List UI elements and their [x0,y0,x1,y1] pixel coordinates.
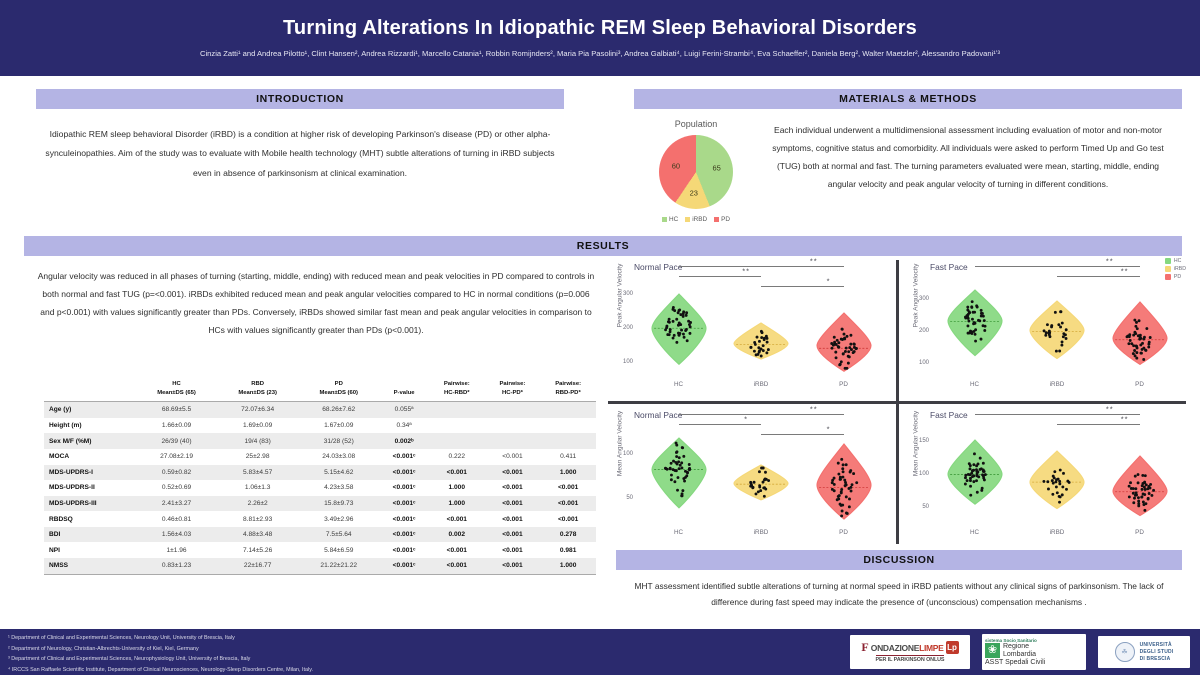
row-label: Height (m) [44,418,136,434]
table-row: MOCA27.08±2.1925±2.9824.03±3.08<0.001ᶜ0.… [44,449,596,465]
pie-legend-item-irbd: iRBD [685,216,707,223]
table-col-header-4: P-value [379,378,429,402]
results-table: HCMean±DS (65)RBDMean±DS (23)PDMean±DS (… [44,378,596,575]
significance-bar [1057,424,1140,425]
chart-x-tick-pd: PD [839,381,848,388]
chart-legend-item-irbd: iRBD [1165,266,1186,272]
chart-y-tick: 50 [922,504,929,510]
discussion-text: MHT assessment identified subtle alterat… [616,579,1182,610]
population-pie-chart: Population 65 23 60 HC iRBD [634,119,758,223]
cell-pair-hc-rbd [429,418,485,434]
chart-plot-area: 100200300HCiRBDPD**** [932,280,1182,376]
chart-x-tick-hc: HC [970,381,979,388]
chart-x-tick-hc: HC [674,529,683,536]
row-label: NPI [44,542,136,558]
chart-y-tick: 150 [919,438,929,444]
cell-pair-hc-pd: <0.001 [485,465,541,481]
violin-shape-pd [815,442,873,521]
chart-legend-label: PD [1174,274,1181,280]
chart-legend-label: HC [1174,258,1182,264]
introduction-section: INTRODUCTION Idiopathic REM sleep behavi… [36,89,564,183]
cell-pd: 15.8±9.73 [298,496,379,512]
cell-pvalue: <0.001ᶜ [379,558,429,574]
chart-peak-normal: Normal PacePeak Angular Velocity10020030… [608,258,890,398]
chart-legend-item-pd: PD [1165,274,1186,280]
significance-bar [1057,276,1140,277]
cell-pair-hc-rbd [429,433,485,449]
cell-pvalue: 0.002ᵇ [379,433,429,449]
cell-rbd: 2.26±2 [217,496,298,512]
cell-pair-hc-pd: <0.001 [485,542,541,558]
pie-chart-title: Population [634,119,758,129]
cell-pair-hc-rbd: 1.000 [429,496,485,512]
chart-legend-label: iRBD [1174,266,1186,272]
significance-bar [975,414,1140,415]
table-col-header-3: PDMean±DS (60) [298,378,379,402]
cell-hc: 0.46±0.81 [136,511,217,527]
chart-legend-item-hc: HC [1165,258,1186,264]
pie-legend-item-pd: PD [714,216,730,223]
chart-title: Normal Pace [634,262,682,272]
cell-rbd: 72.07±6.34 [217,402,298,418]
pie-legend-label-hc: HC [669,216,678,223]
significance-bar [679,276,762,277]
cell-pair-hc-rbd: 1.000 [429,480,485,496]
pie-legend-swatch-irbd [685,217,690,222]
cell-pair-hc-rbd: 0.002 [429,527,485,543]
table-row: Height (m)1.66±0.091.69±0.091.67±0.090.3… [44,418,596,434]
cell-pvalue: <0.001ᶜ [379,496,429,512]
pie-legend-item-hc: HC [662,216,678,223]
cell-rbd: 22±16.77 [217,558,298,574]
cell-pair-hc-rbd: <0.001 [429,558,485,574]
cell-hc: 2.41±3.27 [136,496,217,512]
violin-shape-irbd [732,321,790,361]
cell-pd: 21.22±21.22 [298,558,379,574]
regione-lombardia-logo: sistema Socio Sanitario ❀ Regione Lombar… [982,634,1086,670]
chart-mean-fast: Fast PaceMean Angular Velocity50100150HC… [904,406,1186,546]
chart-legend-swatch [1165,258,1171,264]
row-label: MOCA [44,449,136,465]
chart-plot-area: 100200300HCiRBDPD***** [636,280,886,376]
cell-pair-hc-pd: <0.001 [485,496,541,512]
cell-pvalue: <0.001ᶜ [379,465,429,481]
row-label: MDS-UPDRS-I [44,465,136,481]
significance-stars: ** [810,406,818,414]
pie-legend-swatch-pd [714,217,719,222]
cell-pair-hc-pd: <0.001 [485,558,541,574]
cell-pair-rbd-pd: <0.001 [540,511,596,527]
table-col-header-2: RBDMean±DS (23) [217,378,298,402]
cell-hc: 26/39 (40) [136,433,217,449]
pie-label-pd: 60 [672,161,680,170]
chart-x-tick-pd: PD [839,529,848,536]
cell-pd: 24.03±3.08 [298,449,379,465]
cell-pd: 7.5±5.64 [298,527,379,543]
regione-name-line2: Lombardia [1003,651,1036,658]
cell-pvalue: 0.34ª [379,418,429,434]
cell-pvalue: <0.001ᶜ [379,542,429,558]
cell-rbd: 1.06±1.3 [217,480,298,496]
chart-y-tick: 100 [919,360,929,366]
materials-methods-band: MATERIALS & METHODS [634,89,1182,109]
table-col-header-5: Pairwise:HC-RBD* [429,378,485,402]
cell-pair-hc-pd: <0.001 [485,511,541,527]
pie-label-hc: 65 [712,164,720,173]
significance-stars: ** [810,258,818,266]
significance-stars: * [827,426,831,434]
affiliation-line: ⁴ IRCCS San Raffaele Scientific Institut… [8,665,313,675]
table-row: MDS-UPDRS-I0.59±0.825.83±4.575.15±4.62<0… [44,465,596,481]
poster-footer: ¹ Department of Clinical and Experimenta… [0,629,1200,675]
introduction-band: INTRODUCTION [36,89,564,109]
unibs-seal-icon: ☘ [1115,642,1135,662]
cell-pair-rbd-pd: <0.001 [540,496,596,512]
regione-flower-icon: ❀ [985,643,1000,658]
unibs-line1: UNIVERSITÀ [1140,642,1174,649]
cell-pd: 31/28 (52) [298,433,379,449]
chart-legend-swatch [1165,266,1171,272]
row-label: RBDSQ [44,511,136,527]
table-col-header-0 [44,378,136,402]
chart-y-tick: 200 [623,325,633,331]
unibs-line2: DEGLI STUDI [1140,649,1174,656]
significance-bar [975,266,1140,267]
chart-plot-area: 50100HCiRBDPD**** [636,428,886,524]
cell-pd: 3.49±2.96 [298,511,379,527]
significance-stars: ** [1121,416,1129,424]
chart-y-tick: 200 [919,328,929,334]
cell-pair-rbd-pd [540,433,596,449]
violin-shape-irbd [1028,299,1086,361]
cell-hc: 68.69±5.5 [136,402,217,418]
discussion-band: DISCUSSION [616,550,1182,570]
chart-x-tick-irbd: iRBD [754,529,769,536]
table-row: Age (y)68.69±5.572.07±6.3468.26±7.620.05… [44,402,596,418]
affiliation-line: ¹ Department of Clinical and Experimenta… [8,633,313,644]
cell-rbd: 25±2.98 [217,449,298,465]
row-label: MDS-UPDRS-III [44,496,136,512]
significance-bar [679,424,762,425]
cell-pair-hc-pd [485,402,541,418]
chart-title: Normal Pace [634,410,682,420]
table-col-header-6: Pairwise:HC-PD* [485,378,541,402]
chart-x-tick-hc: HC [674,381,683,388]
chart-legend: HCiRBDPD [1165,258,1186,282]
table-row: NPI1±1.967.14±5.265.84±6.59<0.001ᶜ<0.001… [44,542,596,558]
materials-methods-text: Each individual underwent a multidimensi… [758,119,1182,223]
cell-pair-hc-pd: <0.001 [485,527,541,543]
results-band: RESULTS [24,236,1182,256]
cell-rbd: 5.83±4.57 [217,465,298,481]
cell-pvalue: <0.001ᶜ [379,449,429,465]
cell-pd: 4.23±3.58 [298,480,379,496]
limpe-subtitle: PER IL PARKINSON ONLUS [876,655,945,663]
cell-pd: 1.67±0.09 [298,418,379,434]
violin-shape-hc [650,436,708,510]
cell-pair-hc-rbd: <0.001 [429,542,485,558]
cell-hc: 1±1.96 [136,542,217,558]
table-row: MDS-UPDRS-II0.52±0.691.06±1.34.23±3.58<0… [44,480,596,496]
chart-x-tick-irbd: iRBD [1050,381,1065,388]
cell-pd: 68.26±7.62 [298,402,379,418]
cell-pair-rbd-pd: 0.278 [540,527,596,543]
table-header-row: HCMean±DS (65)RBDMean±DS (23)PDMean±DS (… [44,378,596,402]
regione-name-line1: Regione [1003,643,1036,650]
table-row: Sex M/F (%M)26/39 (40)19/4 (83)31/28 (52… [44,433,596,449]
cell-pair-rbd-pd: 1.000 [540,465,596,481]
cell-pair-hc-pd [485,433,541,449]
chart-legend-swatch [1165,274,1171,280]
fondazione-limpe-logo: F ONDAZIONELIMPE Lp PER IL PARKINSON ONL… [850,635,970,669]
cell-rbd: 4.88±3.48 [217,527,298,543]
affiliation-line: ² Department of Neurology, Christian-Alb… [8,644,313,655]
cell-pair-hc-pd: <0.001 [485,449,541,465]
chart-title: Fast Pace [930,262,968,272]
chart-y-tick: 50 [626,495,633,501]
cell-rbd: 8.81±2.93 [217,511,298,527]
table-row: BDI1.56±4.034.88±3.487.5±5.64<0.001ᶜ0.00… [44,527,596,543]
cell-hc: 0.52±0.69 [136,480,217,496]
cell-hc: 0.83±1.23 [136,558,217,574]
cell-pair-rbd-pd: 0.981 [540,542,596,558]
table-row: NMSS0.83±1.2322±16.7721.22±21.22<0.001ᶜ<… [44,558,596,574]
cell-rbd: 1.69±0.09 [217,418,298,434]
cell-pair-hc-rbd: <0.001 [429,465,485,481]
chart-y-tick: 100 [919,471,929,477]
cell-pair-hc-rbd: 0.222 [429,449,485,465]
row-label: Age (y) [44,402,136,418]
materials-methods-section: MATERIALS & METHODS Population 65 23 60 … [634,89,1182,223]
violin-shape-irbd [732,463,790,502]
pie-legend-label-pd: PD [721,216,730,223]
results-text: Angular velocity was reduced in all phas… [36,268,596,339]
cell-pair-hc-rbd [429,402,485,418]
significance-bar [679,266,844,267]
cell-pair-hc-pd: <0.001 [485,480,541,496]
significance-bar [761,286,844,287]
cell-pvalue: 0.055ª [379,402,429,418]
violin-shape-irbd [1028,449,1086,511]
table-col-header-7: Pairwise:RBD-PD* [540,378,596,402]
limpe-word-limpe: LIMPE [919,643,943,653]
regione-asst-line: ASST Spedali Civili [985,659,1045,666]
row-label: NMSS [44,558,136,574]
violin-shape-hc [946,288,1004,358]
cell-pvalue: <0.001ᶜ [379,527,429,543]
cell-hc: 27.08±2.19 [136,449,217,465]
table-row: RBDSQ0.46±0.818.81±2.933.49±2.96<0.001ᶜ<… [44,511,596,527]
cell-pd: 5.15±4.62 [298,465,379,481]
logo-row: F ONDAZIONELIMPE Lp PER IL PARKINSON ONL… [850,634,1190,670]
table-col-header-1: HCMean±DS (65) [136,378,217,402]
violin-shape-hc [650,292,708,366]
cell-pair-rbd-pd: 0.411 [540,449,596,465]
significance-stars: ** [1121,268,1129,276]
pie-graphic: 65 23 60 [659,135,733,209]
chart-plot-area: 50100150HCiRBDPD**** [932,428,1182,524]
pie-legend-swatch-hc [662,217,667,222]
chart-x-tick-pd: PD [1135,381,1144,388]
violin-shape-pd [815,311,873,373]
significance-bar [761,434,844,435]
chart-mean-normal: Normal PaceMean Angular Velocity50100HCi… [608,406,890,546]
cell-pair-rbd-pd [540,418,596,434]
violin-chart-grid: Normal PacePeak Angular Velocity10020030… [608,258,1186,546]
discussion-section: DISCUSSION MHT assessment identified sub… [616,550,1182,610]
cell-pvalue: <0.001ᶜ [379,480,429,496]
limpe-word-fondazione: ONDAZIONE [871,643,919,653]
cell-pair-rbd-pd [540,402,596,418]
cell-rbd: 7.14±5.26 [217,542,298,558]
cell-pvalue: <0.001ᶜ [379,511,429,527]
chart-horizontal-divider [608,401,1186,404]
chart-peak-fast: Fast PacePeak Angular Velocity100200300H… [904,258,1186,398]
chart-y-tick: 100 [623,451,633,457]
cell-pd: 5.84±6.59 [298,542,379,558]
introduction-text: Idiopathic REM sleep behavioral Disorder… [36,125,564,183]
chart-y-axis-label: Mean Angular Velocity [617,398,624,490]
table-row: MDS-UPDRS-III2.41±3.272.26±215.8±9.73<0.… [44,496,596,512]
author-list: Cinzia Zatti¹ and Andrea Pilotto¹, Clint… [20,49,1180,59]
significance-stars: ** [1106,406,1114,414]
chart-y-tick: 300 [623,291,633,297]
chart-x-tick-pd: PD [1135,529,1144,536]
cell-hc: 1.66±0.09 [136,418,217,434]
pie-legend-label-irbd: iRBD [692,216,707,223]
poster-header: Turning Alterations In Idiopathic REM Sl… [0,0,1200,76]
chart-title: Fast Pace [930,410,968,420]
affiliation-line: ³ Department of Clinical and Experimenta… [8,654,313,665]
cell-hc: 1.56±4.03 [136,527,217,543]
universita-brescia-logo: ☘ UNIVERSITÀ DEGLI STUDI DI BRESCIA [1098,636,1190,668]
cell-pair-rbd-pd: 1.000 [540,558,596,574]
pie-legend: HC iRBD PD [634,216,758,223]
cell-hc: 0.59±0.82 [136,465,217,481]
page-title: Turning Alterations In Idiopathic REM Sl… [283,17,917,39]
violin-shape-pd [1111,300,1169,366]
cell-pair-rbd-pd: <0.001 [540,480,596,496]
violin-shape-hc [946,438,1004,506]
significance-stars: ** [1106,258,1114,266]
chart-y-tick: 100 [623,359,633,365]
limpe-f-letter: F [861,642,868,653]
affiliations-list: ¹ Department of Clinical and Experimenta… [8,633,313,675]
chart-x-tick-hc: HC [970,529,979,536]
row-label: MDS-UPDRS-II [44,480,136,496]
significance-stars: ** [742,268,750,276]
table-body: Age (y)68.69±5.572.07±6.3468.26±7.620.05… [44,402,596,575]
significance-stars: * [827,278,831,286]
chart-x-tick-irbd: iRBD [1050,529,1065,536]
results-table-wrapper: HCMean±DS (65)RBDMean±DS (23)PDMean±DS (… [44,378,596,575]
violin-shape-pd [1111,454,1169,518]
cell-rbd: 19/4 (83) [217,433,298,449]
cell-pair-hc-rbd: <0.001 [429,511,485,527]
unibs-line3: DI BRESCIA [1140,656,1174,663]
cell-pair-hc-pd [485,418,541,434]
significance-stars: * [744,416,748,424]
pie-label-irbd: 23 [690,188,698,197]
row-label: BDI [44,527,136,543]
limpe-lp-badge: Lp [946,641,959,654]
significance-bar [679,414,844,415]
chart-x-tick-irbd: iRBD [754,381,769,388]
chart-y-tick: 300 [919,296,929,302]
row-label: Sex M/F (%M) [44,433,136,449]
poster-root: Turning Alterations In Idiopathic REM Sl… [0,0,1200,675]
